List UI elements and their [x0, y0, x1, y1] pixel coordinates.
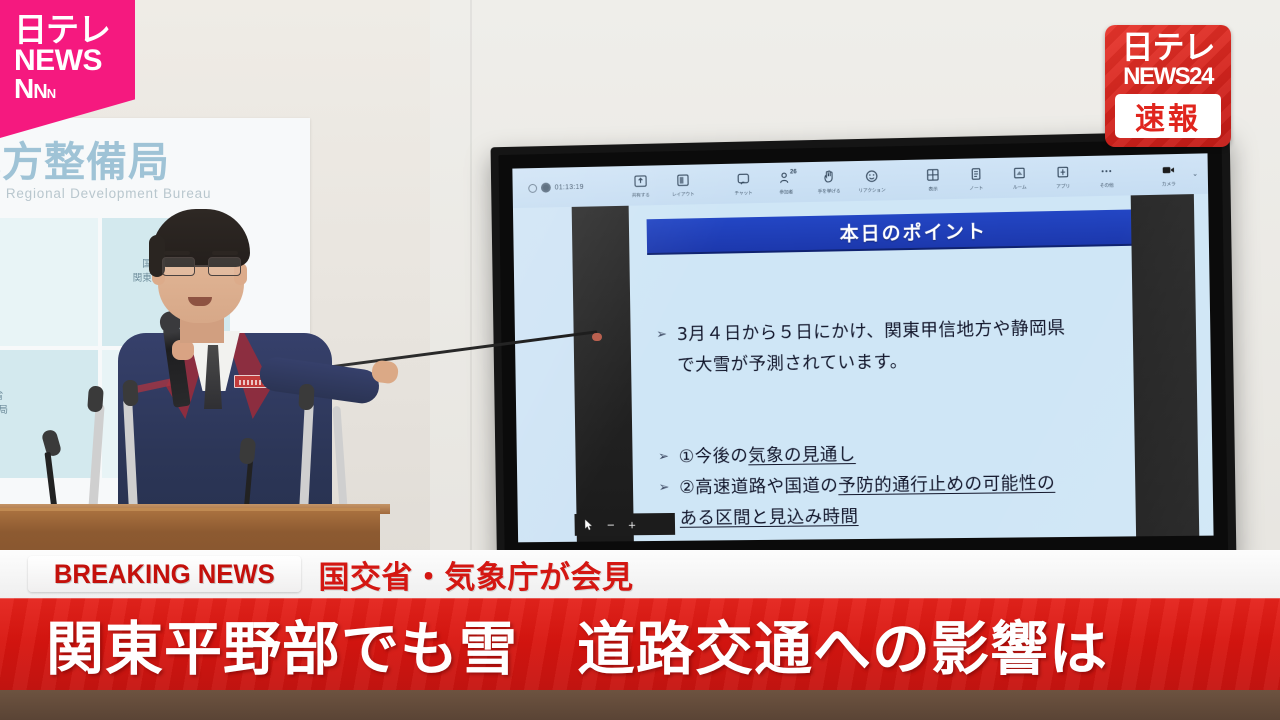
nnn-n-medium: N: [33, 81, 46, 103]
ntv-logo-line1: 日テレ: [14, 14, 135, 46]
ntv-logo-line2: NEWS: [14, 46, 135, 77]
news24-badge: 日テレ NEWS24 速報: [1105, 25, 1231, 147]
podium-microphone-head: [239, 437, 256, 464]
apps-icon: [1041, 163, 1085, 181]
toolbar-label: チャット: [723, 189, 764, 196]
breaking-news-pill: BREAKING NEWS: [28, 556, 301, 592]
view-icon: [911, 166, 954, 184]
toolbar-notes[interactable]: ノート: [954, 165, 998, 192]
toolbar-label: その他: [1086, 182, 1128, 190]
slide-title-text: 本日のポイント: [839, 216, 987, 246]
bullet-1-line-1: 3月４日から５日にかけ、関東甲信地方や静岡県: [677, 319, 1066, 345]
presenter-glasses: [160, 257, 244, 277]
bullet-2-plain: ①今後の: [679, 447, 749, 468]
glasses-lens-right: [208, 257, 241, 276]
backdrop-subtitle: Kanto Regional Development Bureau: [0, 186, 282, 201]
presenter-brow-right: [212, 251, 238, 255]
lower-third-headline-bar: 関東平野部でも雪 道路交通への影響は: [0, 598, 1280, 690]
glasses-lens-left: [162, 257, 195, 276]
record-dot-icon: [541, 183, 551, 193]
toolbar-items: 共有する レイアウト: [619, 158, 1214, 199]
tv-bezel: 本日のポイント ➢ 3月４日から５日にかけ、関東甲信地方や静岡県 で大雪が予測さ…: [498, 139, 1228, 558]
slide-bullet-3: ➢ ②高速道路や国道の予防的通行止めの可能性の ある区間と見込み時間: [658, 467, 1195, 534]
bullet-2-underlined: 気象の見通し: [748, 445, 856, 466]
nnn-n-large: N: [14, 73, 33, 104]
presenter-brow-left: [164, 251, 190, 255]
toolbar-chat[interactable]: チャット: [722, 170, 765, 197]
recording-indicator: 01:13:19: [528, 182, 584, 193]
slide-title-banner: 本日のポイント: [647, 208, 1185, 255]
slide-spacer: [657, 373, 1194, 443]
cursor-icon: [584, 519, 593, 531]
podium-microphone-head: [122, 380, 138, 407]
toolbar-view[interactable]: 表示: [911, 166, 955, 193]
toolbar-rooms[interactable]: ルーム: [997, 164, 1041, 191]
news24-line2: NEWS24: [1105, 64, 1231, 90]
bullet-3-plain: ②高速道路や国道の: [679, 476, 838, 498]
toolbar-camera[interactable]: カメラ: [1146, 161, 1190, 188]
ntv-logo-nnn: NNN: [14, 75, 135, 103]
broadcast-screenshot: 地方整備局 Kanto Regional Development Bureau …: [0, 0, 1280, 720]
news24-flash-label: 速報: [1135, 94, 1201, 138]
toolbar-label: アプリ: [1042, 182, 1083, 190]
pillarbox-left: [572, 206, 634, 542]
backdrop-panel-text-alt: 交通省 地整備局: [0, 390, 44, 419]
presenter-hand-left: [172, 340, 194, 360]
podium-microphone-head: [87, 386, 104, 413]
rooms-icon: [997, 164, 1041, 182]
toolbar-label: ルーム: [999, 183, 1040, 191]
bullet-arrow-icon: ➢: [658, 443, 669, 474]
toolbar-raise-hand[interactable]: 手を挙げる: [807, 168, 850, 195]
glasses-bridge: [195, 265, 208, 267]
toolbar-label: 手を挙げる: [808, 187, 849, 194]
chevron-down-icon[interactable]: ⌄: [1192, 170, 1198, 178]
microphone-icon: [1200, 160, 1214, 178]
pillarbox-right: [1131, 194, 1200, 536]
news24-flash-box: 速報: [1115, 94, 1221, 138]
breaking-news-label: BREAKING NEWS: [54, 559, 275, 590]
toolbar-layout[interactable]: レイアウト: [661, 171, 704, 198]
slide-body: ➢ 3月４日から５日にかけ、関東甲信地方や静岡県 で大雪が予測されています。 ➢…: [656, 311, 1195, 534]
slide-bullet-1: ➢ 3月４日から５日にかけ、関東甲信地方や静岡県 で大雪が予測されています。: [656, 311, 1193, 381]
slide-zoom-controls[interactable]: − +: [574, 513, 675, 536]
people-icon: [764, 169, 807, 187]
toolbar-label: レイアウト: [663, 190, 703, 197]
layout-icon: [661, 171, 704, 189]
bullet-3-underlined-1: 予防的通行止めの可能性の: [838, 474, 1055, 497]
podium-microphone-head: [298, 384, 314, 411]
toolbar-label: リアクション: [851, 186, 892, 194]
tv-screen: 本日のポイント ➢ 3月４日から５日にかけ、関東甲信地方や静岡県 で大雪が予測さ…: [512, 153, 1213, 542]
pointer-tip: [592, 333, 602, 341]
recording-timer: 01:13:19: [555, 183, 584, 191]
camera-icon: [1146, 161, 1190, 179]
chat-icon: [722, 170, 765, 188]
toolbar-label: 参加者: [766, 188, 807, 195]
news24-line1: 日テレ: [1105, 31, 1231, 63]
toolbar-microphone[interactable]: マイク: [1200, 160, 1214, 187]
participant-count: 26: [790, 169, 797, 175]
lower-third-headline: 関東平野部でも雪 道路交通への影響は: [46, 602, 1108, 686]
raise-hand-icon: [807, 168, 850, 186]
reactions-icon: [850, 167, 893, 185]
share-screen-icon: [619, 172, 662, 190]
toolbar-label: 表示: [912, 185, 953, 193]
toolbar-more[interactable]: その他: [1084, 162, 1128, 189]
timer-circle-icon: [528, 183, 537, 192]
toolbar-participants[interactable]: 26 参加者: [764, 169, 807, 196]
lower-third-footer-strip: [0, 690, 1280, 720]
wall-seam: [470, 0, 472, 560]
more-icon: [1084, 162, 1128, 180]
toolbar-label: マイク: [1201, 179, 1213, 187]
bullet-arrow-icon: ➢: [656, 320, 668, 381]
lower-third-subtitle: 国交省・気象庁が会見: [319, 552, 634, 597]
backdrop-title: 地方整備局: [0, 128, 260, 188]
toolbar-reactions[interactable]: リアクション: [850, 167, 893, 194]
toolbar-label: 共有する: [620, 191, 660, 198]
toolbar-share-screen[interactable]: 共有する: [619, 172, 662, 199]
nnn-n-small: N: [47, 86, 55, 101]
bullet-3-underlined-2: ある区間と見込み時間: [680, 507, 859, 529]
lower-third-subtitle-bar: BREAKING NEWS 国交省・気象庁が会見: [0, 550, 1280, 598]
presentation-display: 本日のポイント ➢ 3月４日から５日にかけ、関東甲信地方や静岡県 で大雪が予測さ…: [491, 131, 1237, 569]
lower-third: BREAKING NEWS 国交省・気象庁が会見 関東平野部でも雪 道路交通への…: [0, 550, 1280, 720]
slide-surface: 本日のポイント ➢ 3月４日から５日にかけ、関東甲信地方や静岡県 で大雪が予測さ…: [629, 194, 1214, 541]
toolbar-label: ノート: [955, 184, 996, 192]
zoom-in-button[interactable]: +: [628, 517, 636, 532]
toolbar-label: カメラ: [1147, 180, 1189, 188]
bullet-1-line-2: で大雪が予測されています。: [677, 352, 908, 375]
notes-icon: [954, 165, 998, 183]
toolbar-apps[interactable]: アプリ: [1041, 163, 1085, 190]
zoom-out-button[interactable]: −: [607, 517, 615, 532]
backdrop-cell: [0, 218, 98, 346]
